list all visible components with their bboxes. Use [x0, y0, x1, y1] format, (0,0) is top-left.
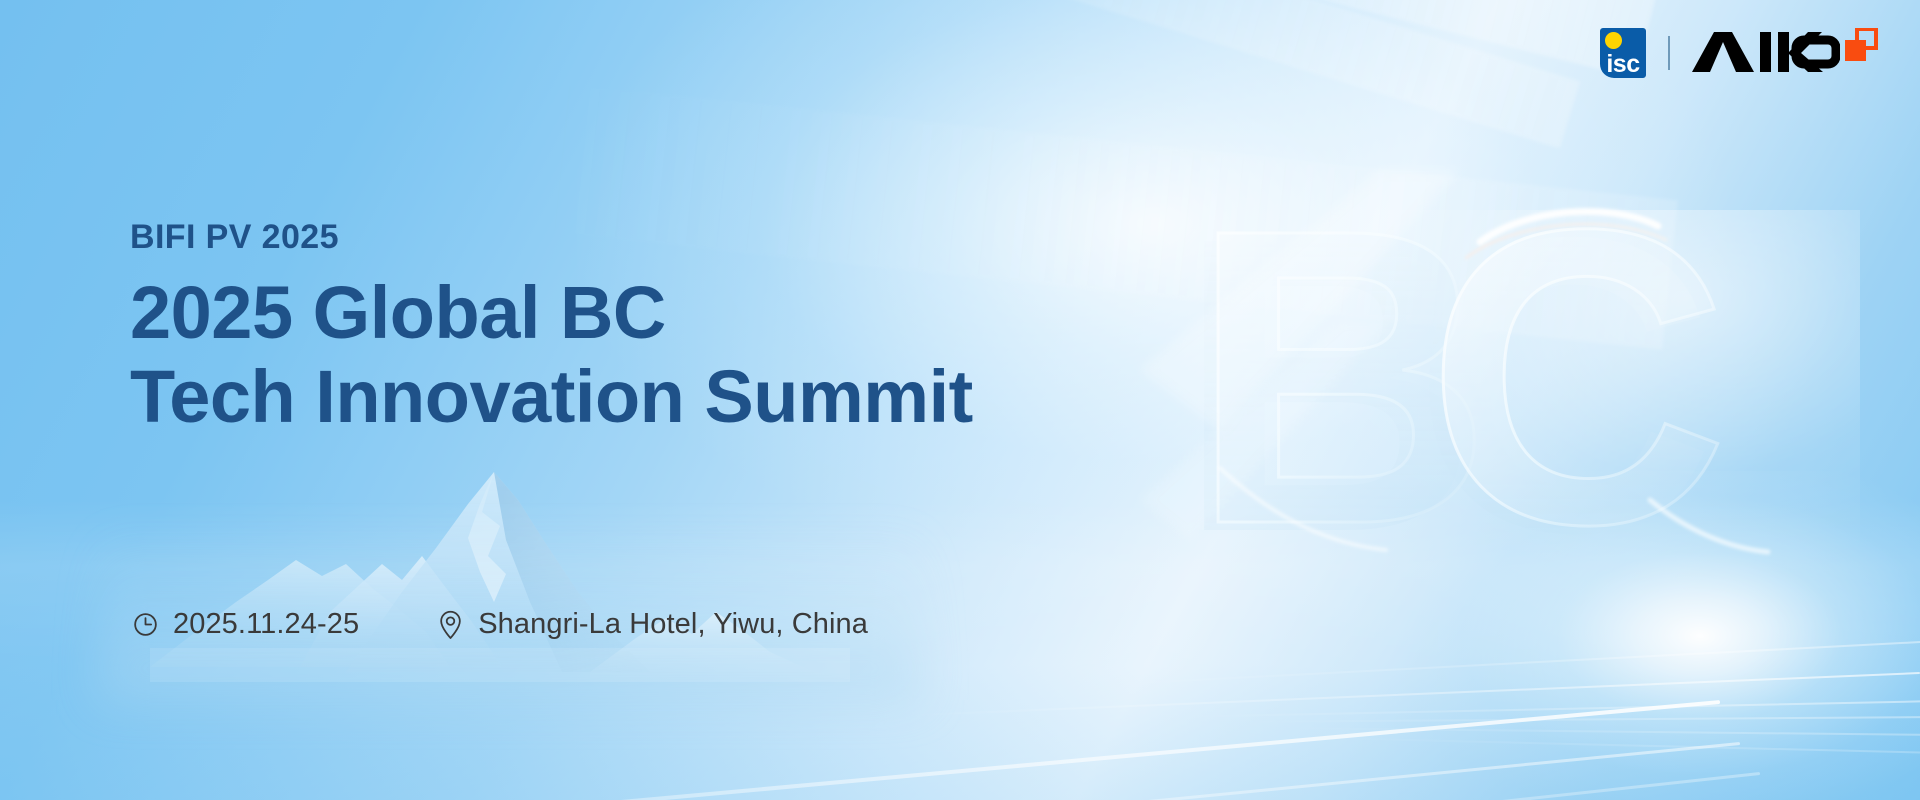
isc-sun-icon — [1605, 32, 1622, 49]
aiko-wordmark — [1692, 32, 1840, 74]
aiko-logo[interactable] — [1692, 32, 1878, 74]
event-date-value: 2025.11.24-25 — [173, 608, 359, 641]
event-series-label: BIFI PV 2025 — [130, 218, 973, 257]
light-streak — [1240, 716, 1920, 723]
light-beam — [173, 0, 1580, 148]
page-title: 2025 Global BC Tech Innovation Summit — [130, 271, 973, 440]
map-pin-icon — [437, 610, 464, 640]
logo-divider — [1668, 36, 1670, 70]
mountain-illustration — [150, 452, 850, 682]
logo-bar: isc — [1600, 28, 1878, 78]
light-beam — [277, 0, 1664, 78]
light-streak — [1180, 700, 1920, 718]
event-venue-value: Shangri-La Hotel, Yiwu, China — [478, 608, 868, 641]
light-streak — [1101, 640, 1920, 686]
light-streak — [169, 772, 1760, 800]
title-line-1: 2025 Global BC — [130, 271, 973, 355]
event-date: 2025.11.24-25 — [132, 608, 359, 641]
light-streak — [48, 742, 1740, 800]
bc-3d-letters: B C B C — [1180, 200, 1880, 620]
light-streak — [901, 672, 1920, 717]
event-details: 2025.11.24-25 Shangri-La Hotel, Yiwu, Ch… — [132, 608, 868, 641]
event-venue: Shangri-La Hotel, Yiwu, China — [437, 608, 868, 641]
light-streak — [1320, 737, 1920, 754]
isc-wordmark: isc — [1600, 52, 1646, 77]
title-line-2: Tech Innovation Summit — [130, 355, 973, 439]
clock-icon — [132, 611, 159, 638]
light-streak — [1280, 727, 1920, 736]
light-streak — [0, 700, 1720, 800]
event-banner: B C B C — [0, 0, 1920, 800]
hero-text-block: BIFI PV 2025 2025 Global BC Tech Innovat… — [130, 218, 973, 440]
isc-logo[interactable]: isc — [1600, 28, 1646, 78]
aiko-square-mark-icon — [1844, 28, 1878, 62]
